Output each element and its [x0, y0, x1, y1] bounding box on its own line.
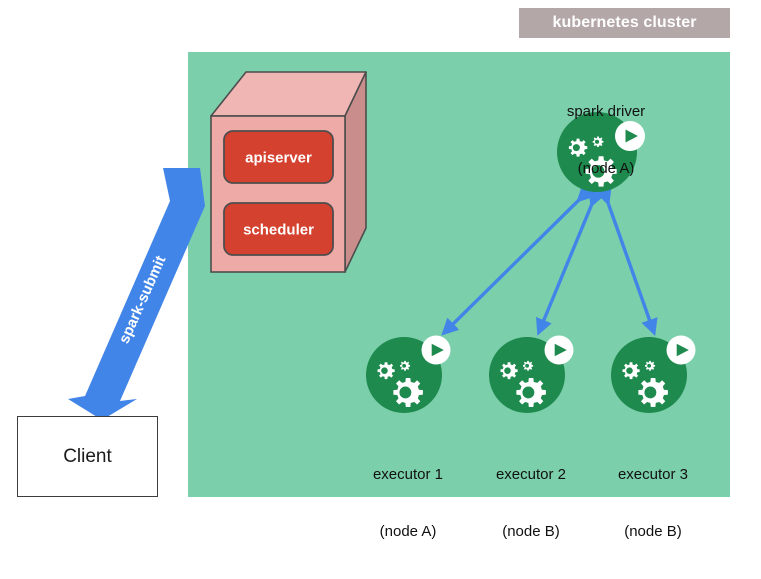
cluster-title-text: kubernetes cluster: [552, 14, 696, 32]
client-label: Client: [63, 446, 112, 468]
executor-1-name: executor 1: [345, 465, 471, 484]
client-box: Client: [17, 416, 158, 497]
executor-3-label: executor 3 (node B): [590, 427, 716, 579]
executor-2-name: executor 2: [468, 465, 594, 484]
spark-driver-label: spark driver (node A): [521, 64, 691, 216]
executor-2-node-id: (node B): [468, 522, 594, 541]
spark-submit-label: spark-submit: [116, 253, 170, 346]
cluster-title-chip: kubernetes cluster: [519, 8, 730, 38]
executor-3-name: executor 3: [590, 465, 716, 484]
executor-3-node-id: (node B): [590, 522, 716, 541]
spark-driver-name: spark driver: [521, 102, 691, 121]
spark-submit-arrow: [68, 168, 205, 420]
diagram-canvas: kubernetes cluster spark-submit Client a…: [0, 0, 761, 516]
executor-2-label: executor 2 (node B): [468, 427, 594, 579]
executor-1-label: executor 1 (node A): [345, 427, 471, 579]
executor-1-node-id: (node A): [345, 522, 471, 541]
spark-driver-node-id: (node A): [521, 159, 691, 178]
